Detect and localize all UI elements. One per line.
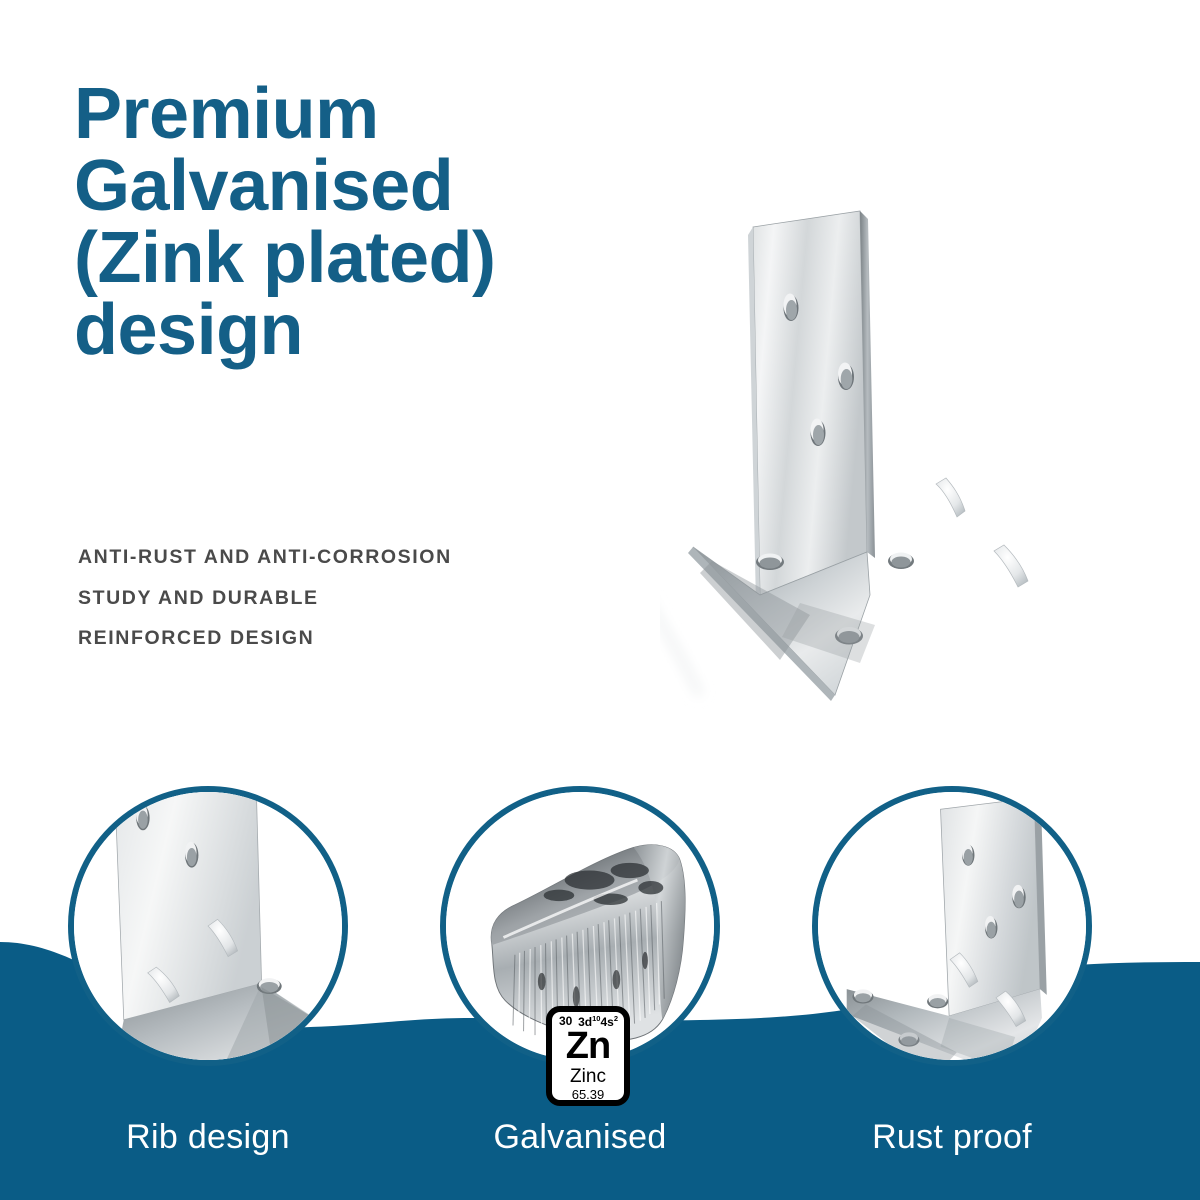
zinc-symbol: Zn bbox=[552, 1027, 624, 1065]
circle-caption-galvanised: Galvanised bbox=[440, 1118, 720, 1157]
feature-item-2: REINFORCED DESIGN bbox=[78, 629, 548, 649]
feature-item-1: STUDY AND DURABLE bbox=[78, 589, 548, 609]
feature-circle-rust-proof bbox=[812, 786, 1092, 1066]
zinc-name: Zinc bbox=[552, 1067, 624, 1086]
bracket-vertical-leg bbox=[753, 211, 875, 595]
infographic-page: Premium Galvanised (Zink plated) design … bbox=[0, 0, 1200, 1200]
zinc-element-tile: 30 3d104s2 Zn Zinc 65.39 bbox=[546, 1006, 630, 1106]
feature-list: ANTI-RUST AND ANTI-CORROSION STUDY AND D… bbox=[78, 548, 548, 670]
hero-product-image bbox=[660, 195, 1160, 715]
circle-caption-rib-design: Rib design bbox=[68, 1118, 348, 1157]
circle-caption-rust-proof: Rust proof bbox=[812, 1118, 1092, 1157]
feature-item-0: ANTI-RUST AND ANTI-CORROSION bbox=[78, 548, 548, 568]
zinc-atomic-mass: 65.39 bbox=[552, 1088, 624, 1101]
reinforcing-ribs bbox=[936, 478, 1028, 587]
feature-circle-rib-design bbox=[68, 786, 348, 1066]
page-title: Premium Galvanised (Zink plated) design bbox=[74, 78, 684, 366]
